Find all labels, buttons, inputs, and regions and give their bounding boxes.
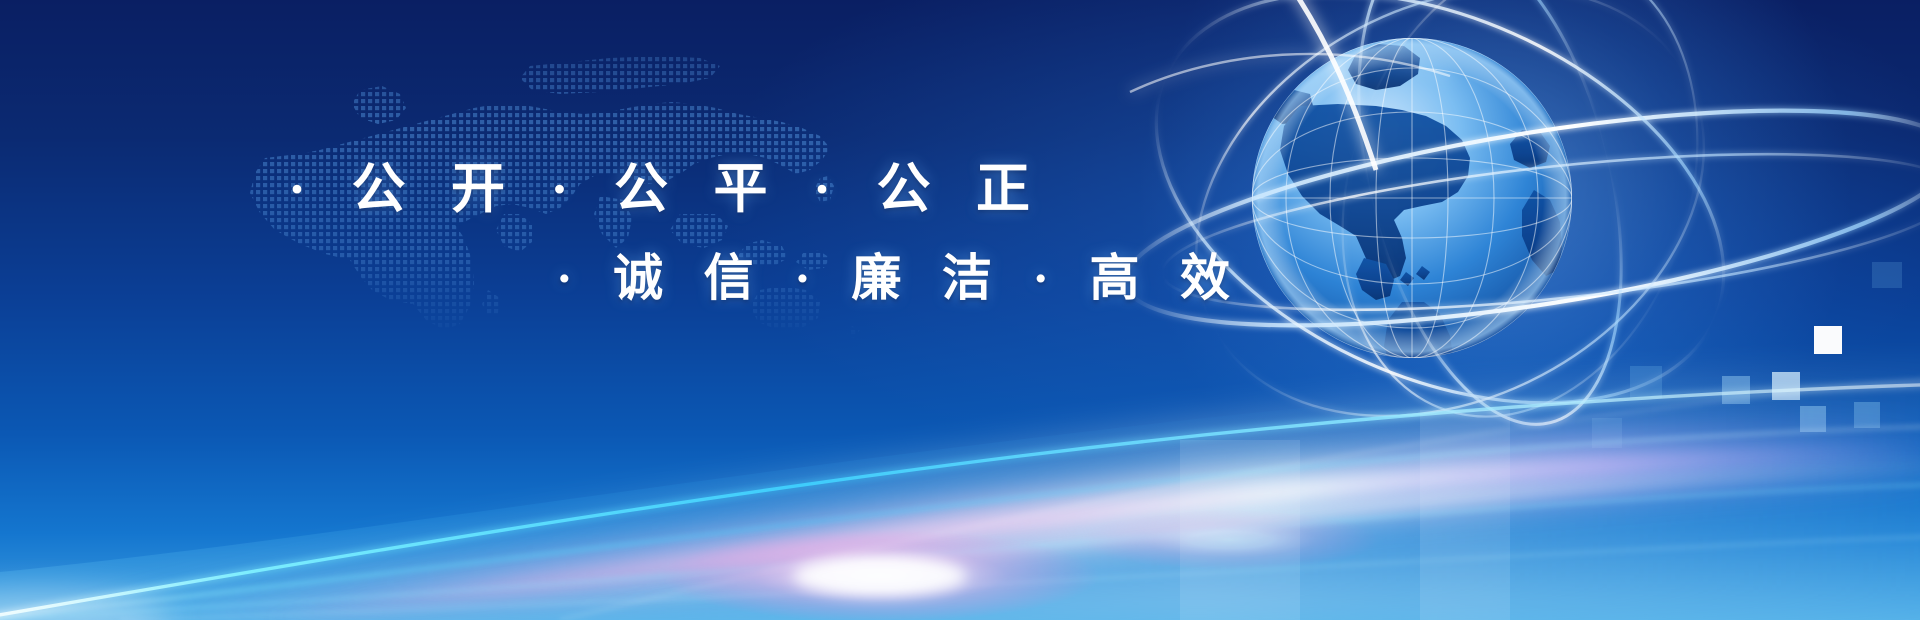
slogan-line-1: · 公 开 · 公 平 · 公 正 xyxy=(288,144,1046,223)
banner-root: · 公 开 · 公 平 · 公 正 · 诚 信 · 廉 洁 · 高 效 xyxy=(0,0,1920,620)
accent-square xyxy=(1800,406,1826,432)
accent-square xyxy=(1722,376,1750,404)
accent-square xyxy=(1592,418,1622,448)
accent-square xyxy=(1872,262,1902,288)
globe-glow xyxy=(1090,0,1870,500)
slogan-line-2: · 诚 信 · 廉 洁 · 高 效 xyxy=(556,238,1244,310)
accent-square xyxy=(1630,366,1662,398)
world-map-dots xyxy=(60,8,880,338)
accent-square xyxy=(1772,372,1800,400)
bottom-light-waves xyxy=(0,290,1920,620)
orbital-light-ribbons xyxy=(1020,0,1920,440)
slogan-block: · 公 开 · 公 平 · 公 正 · 诚 信 · 廉 洁 · 高 效 xyxy=(0,0,1920,620)
tech-accent-squares xyxy=(1380,240,1920,460)
accent-square xyxy=(1854,402,1880,428)
earth-globe xyxy=(1150,10,1670,410)
accent-square xyxy=(1814,326,1842,354)
